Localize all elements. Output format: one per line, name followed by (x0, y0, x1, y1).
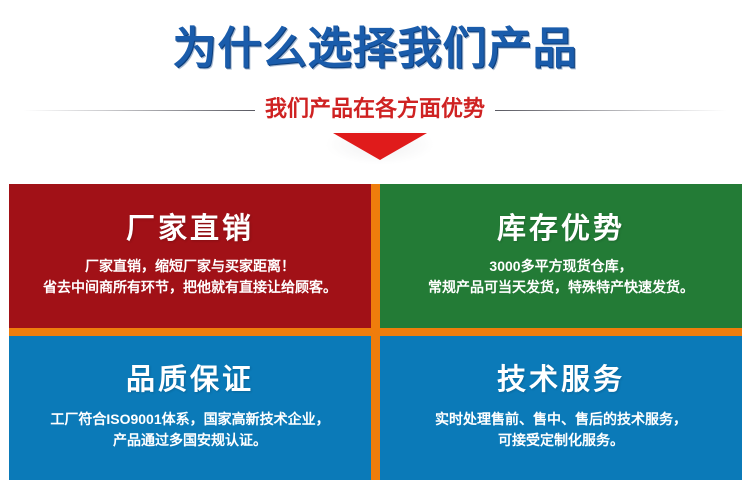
card-title: 厂家直销 (126, 210, 254, 248)
card-title: 技术服务 (497, 361, 625, 399)
banner-header: 为什么选择我们产品 我们产品在各方面优势 (0, 0, 750, 175)
advantage-card-inventory-advantage[interactable]: 库存优势 3000多平方现货仓库， 常规产品可当天发货，特殊特产快速发货。 (380, 184, 742, 328)
card-description-line: 厂家直销，缩短厂家与买家距离！ (43, 256, 337, 277)
card-title: 库存优势 (497, 210, 625, 248)
card-description-line: 产品通过多国安规认证。 (50, 430, 329, 451)
card-description-line: 省去中间商所有环节，把他就有直接让给顾客。 (43, 277, 337, 298)
divider-right (495, 110, 727, 111)
divider-left (23, 110, 255, 111)
card-description-line: 工厂符合ISO9001体系，国家高新技术企业， (50, 409, 329, 430)
card-description-line: 可接受定制化服务。 (435, 430, 687, 451)
card-description: 3000多平方现货仓库， 常规产品可当天发货，特殊特产快速发货。 (428, 256, 694, 298)
card-description-line: 实时处理售前、售中、售后的技术服务， (435, 409, 687, 430)
page-title: 为什么选择我们产品 (0, 22, 750, 76)
page-subtitle: 我们产品在各方面优势 (265, 94, 485, 124)
advantage-card-factory-direct-sales[interactable]: 厂家直销 厂家直销，缩短厂家与买家距离！ 省去中间商所有环节，把他就有直接让给顾… (9, 184, 371, 328)
advantage-card-quality-assurance[interactable]: 品质保证 工厂符合ISO9001体系，国家高新技术企业， 产品通过多国安规认证。 (9, 336, 371, 480)
card-description: 实时处理售前、售中、售后的技术服务， 可接受定制化服务。 (435, 409, 687, 451)
card-description: 厂家直销，缩短厂家与买家距离！ 省去中间商所有环节，把他就有直接让给顾客。 (43, 256, 337, 298)
promo-banner: 为什么选择我们产品 我们产品在各方面优势 厂家直销 厂家直销，缩短厂家与买家距离… (0, 0, 750, 494)
card-description-line: 常规产品可当天发货，特殊特产快速发货。 (428, 277, 694, 298)
chevron-down-triangle-icon (333, 133, 427, 160)
subtitle-row: 我们产品在各方面优势 (0, 92, 750, 126)
card-title: 品质保证 (126, 361, 254, 399)
card-description: 工厂符合ISO9001体系，国家高新技术企业， 产品通过多国安规认证。 (50, 409, 329, 451)
card-description-line: 3000多平方现货仓库， (428, 256, 694, 277)
advantage-card-grid: 厂家直销 厂家直销，缩短厂家与买家距离！ 省去中间商所有环节，把他就有直接让给顾… (9, 184, 742, 480)
advantage-card-technical-service[interactable]: 技术服务 实时处理售前、售中、售后的技术服务， 可接受定制化服务。 (380, 336, 742, 480)
